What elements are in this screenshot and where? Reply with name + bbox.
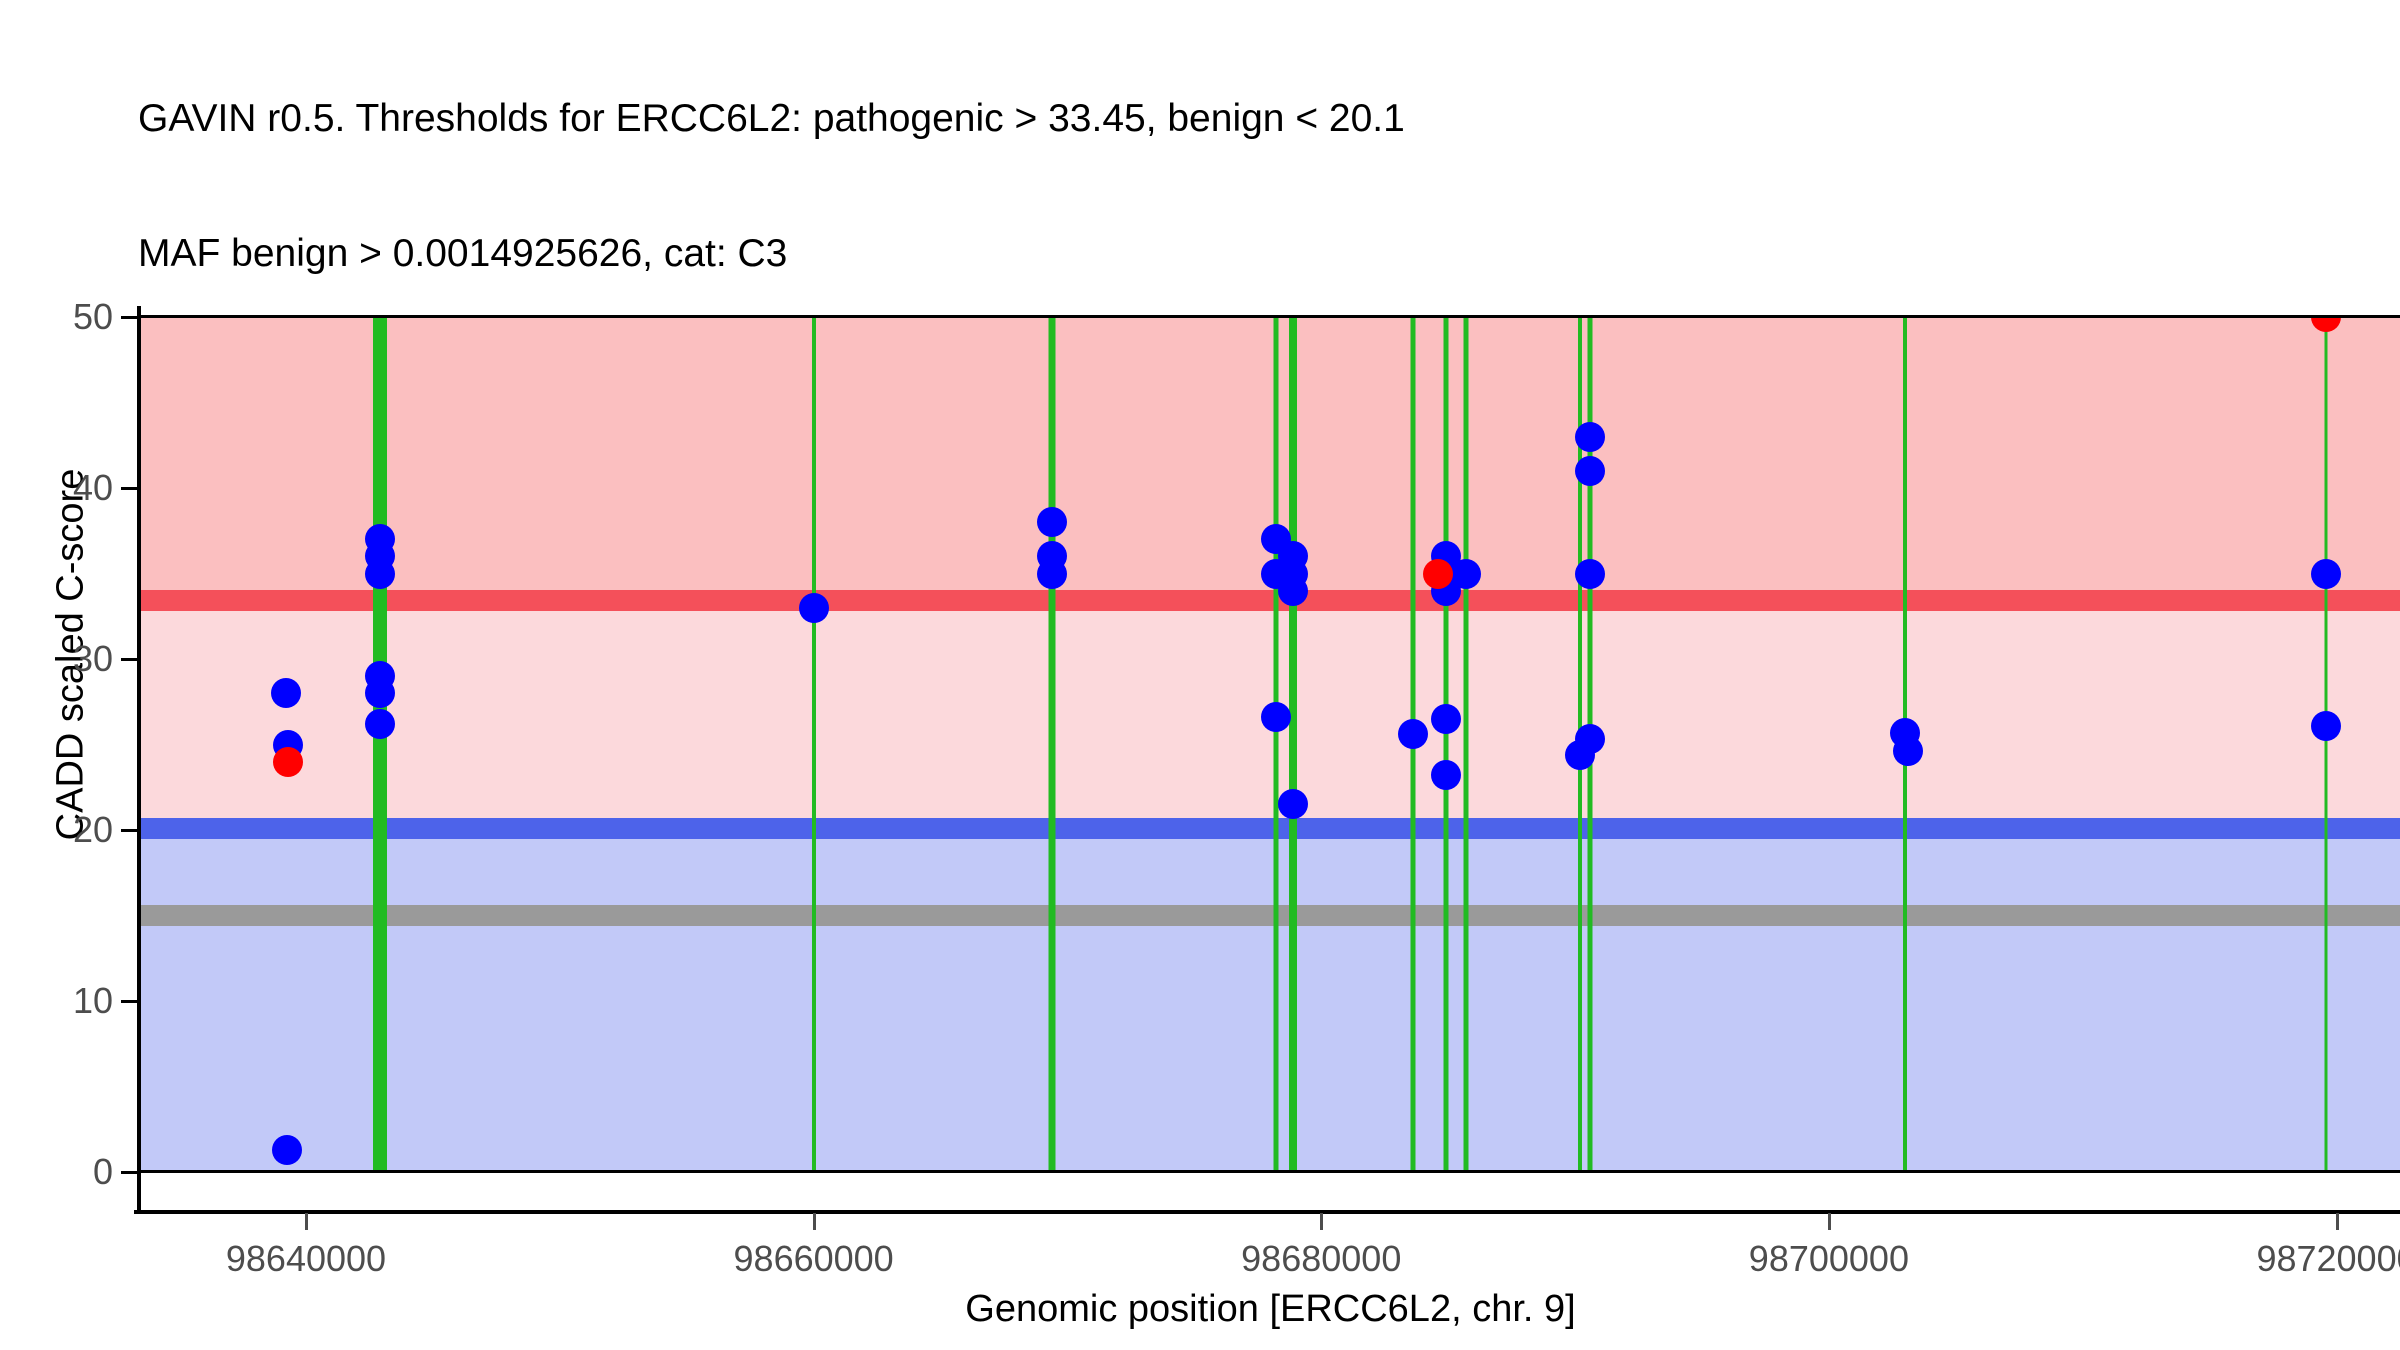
data-point xyxy=(1037,507,1067,537)
y-axis-tick xyxy=(121,316,137,319)
fallback-threshold-line xyxy=(141,905,2400,926)
data-point xyxy=(1278,576,1308,606)
x-axis-tick-label: 98700000 xyxy=(1749,1238,1909,1280)
data-point xyxy=(2311,711,2341,741)
y-axis-tick xyxy=(121,1171,137,1174)
exon-line xyxy=(812,317,816,1172)
data-point xyxy=(799,593,829,623)
exon-line xyxy=(2325,317,2328,1172)
y-axis-tick xyxy=(121,658,137,661)
data-point xyxy=(273,747,303,777)
y-axis-tick-label: 20 xyxy=(0,809,113,851)
exon-line xyxy=(1463,317,1468,1172)
data-point xyxy=(1261,702,1291,732)
pathogenic-threshold-line xyxy=(141,590,2400,611)
x-axis-tick-label: 98680000 xyxy=(1241,1238,1401,1280)
y-axis-tick-label: 40 xyxy=(0,467,113,509)
x-axis-tick xyxy=(1828,1213,1831,1230)
x-axis-line xyxy=(134,1210,2400,1214)
y-axis-tick-label: 0 xyxy=(0,1151,113,1193)
x-axis-tick xyxy=(813,1213,816,1230)
data-point xyxy=(365,559,395,589)
data-point xyxy=(1398,719,1428,749)
panel-bottom-border xyxy=(141,1170,2400,1173)
y-axis-tick xyxy=(121,829,137,832)
x-axis-tick-label: 98720000 xyxy=(2256,1238,2400,1280)
y-axis-tick-label: 10 xyxy=(0,980,113,1022)
benign-threshold-line xyxy=(141,818,2400,839)
data-point xyxy=(1278,789,1308,819)
title-line-2: MAF benign > 0.0014925626, cat: C3 xyxy=(138,231,2338,276)
exon-line xyxy=(1273,317,1278,1172)
y-axis-tick-label: 30 xyxy=(0,638,113,680)
x-axis-tick-label: 98640000 xyxy=(226,1238,386,1280)
exon-line xyxy=(373,317,387,1172)
x-axis-tick-label: 98660000 xyxy=(734,1238,894,1280)
data-point xyxy=(1431,760,1461,790)
y-axis-line xyxy=(137,306,141,1214)
exon-line xyxy=(1443,317,1448,1172)
data-point xyxy=(1893,736,1923,766)
data-point xyxy=(1423,559,1453,589)
data-point xyxy=(1451,559,1481,589)
x-axis-tick xyxy=(305,1213,308,1230)
pathogenic-zone xyxy=(141,317,2400,600)
benign-zone xyxy=(141,828,2400,1172)
data-point xyxy=(365,678,395,708)
x-axis-tick xyxy=(2336,1213,2339,1230)
y-axis-tick-label: 50 xyxy=(0,296,113,338)
plot-panel xyxy=(141,317,2400,1172)
data-point xyxy=(1575,422,1605,452)
data-point xyxy=(1037,559,1067,589)
data-point xyxy=(272,1135,302,1165)
plot-root: GAVIN r0.5. Thresholds for ERCC6L2: path… xyxy=(0,0,2400,1350)
x-axis-tick xyxy=(1320,1213,1323,1230)
data-point xyxy=(1575,559,1605,589)
data-point xyxy=(271,678,301,708)
data-point xyxy=(1565,740,1595,770)
title-line-1: GAVIN r0.5. Thresholds for ERCC6L2: path… xyxy=(138,96,2338,141)
y-axis-tick xyxy=(121,487,137,490)
data-point xyxy=(2311,559,2341,589)
x-axis-label: Genomic position [ERCC6L2, chr. 9] xyxy=(141,1288,2400,1331)
exon-line xyxy=(1289,317,1297,1172)
panel-top-border xyxy=(141,315,2400,318)
data-point xyxy=(1575,456,1605,486)
data-point xyxy=(365,709,395,739)
y-axis-tick xyxy=(121,1000,137,1003)
exon-line xyxy=(1049,317,1056,1172)
data-point xyxy=(1431,704,1461,734)
